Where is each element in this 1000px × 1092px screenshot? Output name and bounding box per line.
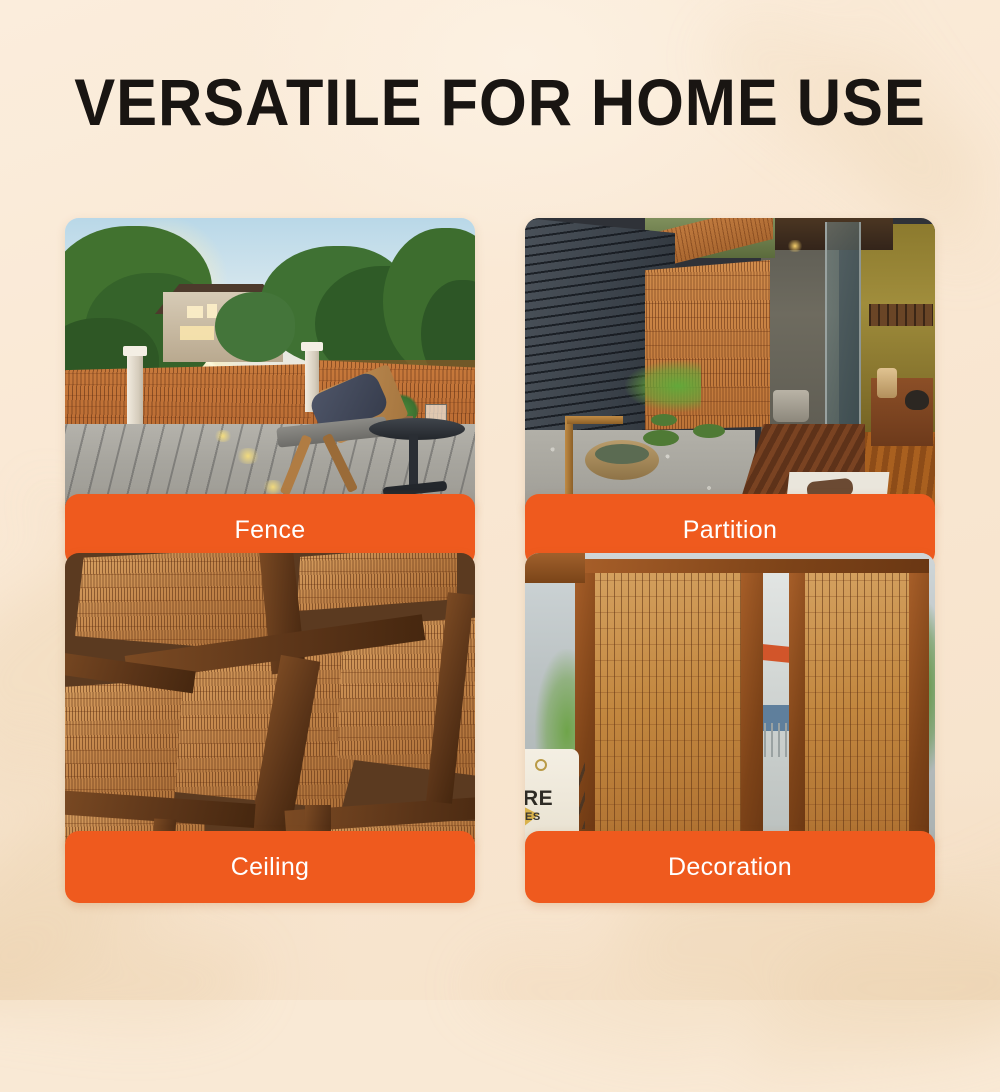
card-label-decoration[interactable]: Decoration bbox=[525, 831, 935, 903]
sign-text-line1: RE bbox=[525, 787, 553, 811]
card-label-text: Fence bbox=[235, 516, 306, 545]
card-label-ceiling[interactable]: Ceiling bbox=[65, 831, 475, 903]
partition-photo bbox=[525, 218, 935, 518]
card-label-text: Decoration bbox=[668, 853, 792, 882]
use-case-card-decoration[interactable]: RE ES Decoration bbox=[525, 553, 935, 853]
card-label-text: Ceiling bbox=[231, 853, 310, 882]
card-label-text: Partition bbox=[683, 516, 777, 545]
ceiling-photo bbox=[65, 553, 475, 853]
decoration-photo: RE ES bbox=[525, 553, 935, 853]
use-case-card-partition[interactable]: Partition bbox=[525, 218, 935, 518]
fence-photo bbox=[65, 218, 475, 518]
use-case-grid: Fence bbox=[65, 218, 935, 853]
page-title: VERSATILE FOR HOME USE bbox=[35, 66, 965, 138]
use-case-card-fence[interactable]: Fence bbox=[65, 218, 475, 518]
sign-text-line2: ES bbox=[525, 811, 541, 823]
use-case-card-ceiling[interactable]: Ceiling bbox=[65, 553, 475, 853]
registered-mark-icon bbox=[535, 759, 547, 771]
